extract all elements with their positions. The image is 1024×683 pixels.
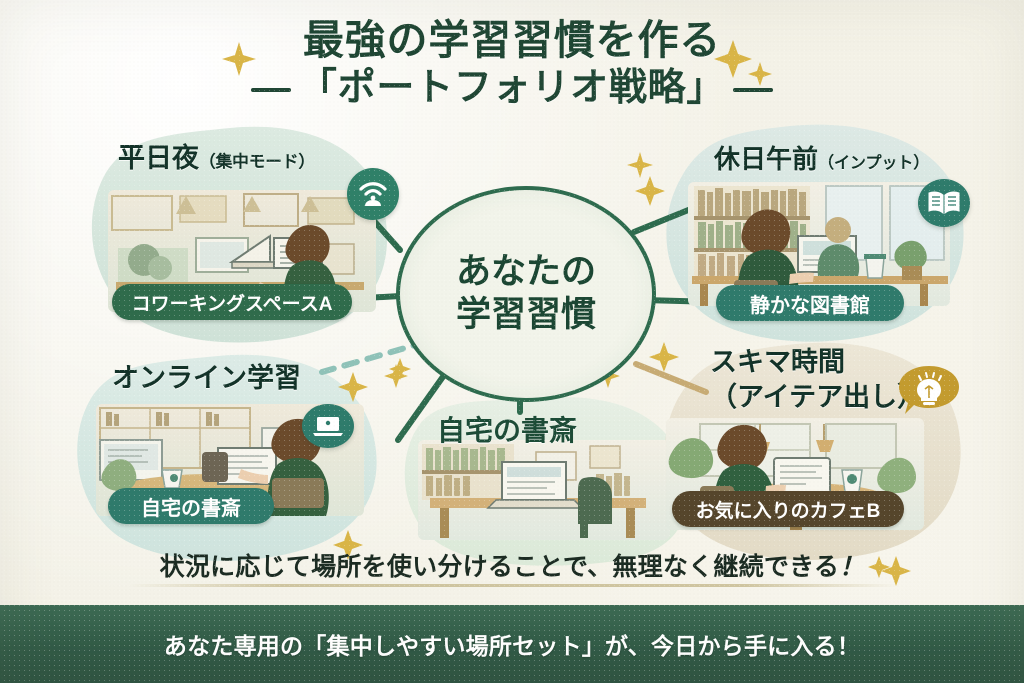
pill-home-study-left[interactable]: 自宅の書斎 — [108, 488, 274, 524]
sparkle-icon — [338, 372, 368, 402]
pill-label: 静かな図書館 — [750, 289, 870, 318]
caption-text: 状況に応じて場所を使い分けることで、無理なく継続できる！ — [0, 547, 1024, 583]
center-line-1: あなたの — [456, 251, 596, 294]
node-title-sub: （アイテア出し） — [710, 380, 924, 415]
center-line-2: 学習習慣 — [456, 294, 596, 337]
wifi-icon[interactable] — [347, 168, 399, 220]
sparkle-icon — [627, 152, 653, 178]
connector-to-holiday-morning-upper — [634, 198, 718, 232]
node-title-main: スキマ時間 — [710, 345, 924, 380]
node-title-weekday-night: 平日夜（集中モード） — [118, 143, 315, 175]
node-title-sub: （インプット） — [818, 154, 929, 172]
pill-label: 自宅の書斎 — [141, 492, 241, 521]
node-title-home-study: 自宅の書斎 — [437, 414, 577, 447]
sparkle-icon — [649, 342, 679, 372]
laptop-icon[interactable] — [302, 404, 354, 448]
node-title-main: 自宅の書斎 — [437, 415, 577, 446]
caption-underline — [128, 584, 898, 587]
node-title-main: 平日夜 — [118, 143, 199, 173]
node-title-spare-time: スキマ時間 （アイテア出し） — [710, 345, 924, 415]
laptop-icon-glyph — [312, 414, 344, 438]
pill-label: お気に入りのカフェB — [696, 496, 881, 523]
caption-main: 状況に応じて場所を使い分けることで、無理なく継続できる — [160, 553, 840, 581]
connector-to-online-learning-dashed — [322, 342, 426, 372]
open-book-icon-glyph — [927, 190, 961, 216]
pill-quiet-library[interactable]: 静かな図書館 — [716, 285, 904, 321]
lightbulb-idea-icon[interactable] — [893, 362, 965, 426]
node-title-holiday-morning: 休日午前（インプット） — [714, 144, 929, 175]
title-line-2-text: 「ポートフォリオ戦略」 — [299, 67, 725, 109]
footer-banner: あなた専用の「集中しやすい場所セット」が、今日から手に入る！ — [0, 605, 1024, 683]
node-title-online-learning: オンライン学習 — [112, 363, 301, 395]
wifi-icon-glyph — [357, 180, 389, 208]
node-title-main: オンライン学習 — [112, 363, 301, 393]
pill-label: コワーキングスペースA — [132, 289, 333, 316]
lightbulb-idea-icon-glyph — [893, 362, 965, 426]
infographic-canvas: 最強の学習習慣を作る 「ポートフォリオ戦略」 あなたの 学習習慣 平日夜（集中モ… — [0, 0, 1024, 683]
sparkle-icon — [384, 364, 408, 388]
illustration-home-study-desk — [418, 440, 670, 540]
pill-coworking-space-a[interactable]: コワーキングスペースA — [112, 284, 352, 320]
sparkle-icon — [389, 358, 411, 380]
title-line-1: 最強の学習習慣を作る — [0, 18, 1024, 64]
center-node-your-study-habit[interactable]: あなたの 学習習慣 — [396, 186, 656, 402]
title-rule-right — [733, 88, 773, 92]
title-rule-left — [251, 88, 291, 92]
connector-to-spare-time — [636, 364, 706, 392]
node-title-main: 休日午前 — [714, 144, 818, 174]
title-line-2: 「ポートフォリオ戦略」 — [0, 66, 1024, 112]
node-title-sub: （集中モード） — [199, 152, 315, 171]
caption-exclamation: ！ — [839, 553, 864, 581]
open-book-icon[interactable] — [918, 179, 970, 227]
footer-text: あなた専用の「集中しやすい場所セット」が、今日から手に入る！ — [164, 627, 860, 661]
pill-favorite-cafe-b[interactable]: お気に入りのカフェB — [672, 491, 904, 527]
sparkle-icon — [635, 176, 665, 206]
page-title: 最強の学習習慣を作る 「ポートフォリオ戦略」 — [0, 18, 1024, 112]
